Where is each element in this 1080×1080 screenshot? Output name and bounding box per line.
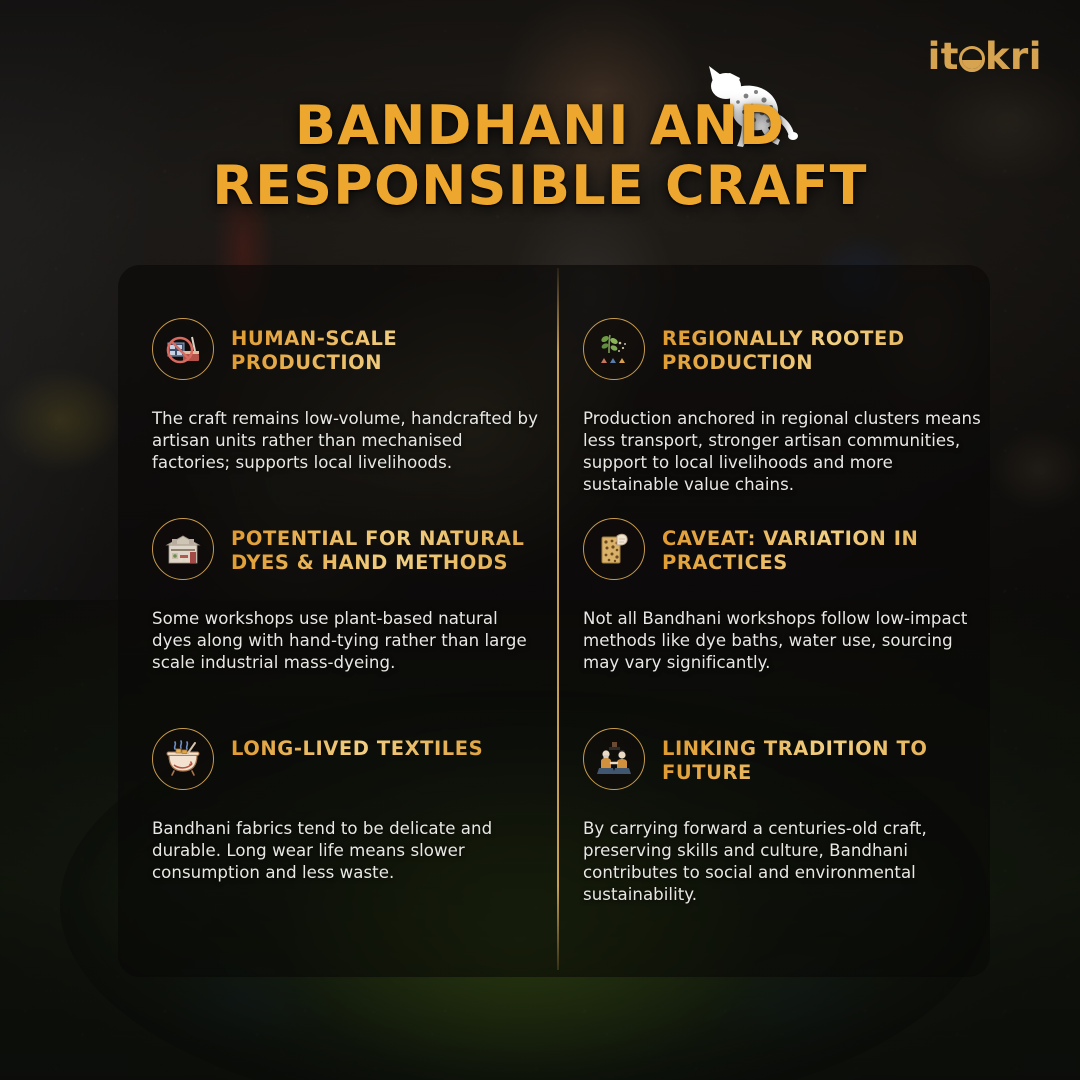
- card-long-lived-textiles: LONG-LIVED TEXTILES Bandhani fabrics ten…: [152, 728, 552, 884]
- card-body: The craft remains low-volume, handcrafte…: [152, 408, 540, 474]
- logo-text-after: kri: [985, 35, 1042, 78]
- two-artisans-seated-icon: [583, 728, 645, 790]
- workshop-shop-building-icon: [152, 518, 214, 580]
- card-header: CAVEAT: VARIATION IN PRACTICES: [583, 518, 983, 580]
- card-body: Production anchored in regional clusters…: [583, 408, 983, 496]
- card-potential-for-natural-dyes: POTENTIAL FOR NATURAL DYES & HAND METHOD…: [152, 518, 552, 674]
- card-header: POTENTIAL FOR NATURAL DYES & HAND METHOD…: [152, 518, 552, 580]
- logo-basket-o-icon: [959, 46, 985, 72]
- card-body: Some workshops use plant-based natural d…: [152, 608, 540, 674]
- card-human-scale-production: HUMAN-SCALE PRODUCTION The craft remains…: [152, 318, 552, 474]
- card-title: HUMAN-SCALE PRODUCTION: [231, 327, 551, 375]
- card-title: LONG-LIVED TEXTILES: [231, 737, 483, 761]
- card-title: CAVEAT: VARIATION IN PRACTICES: [662, 527, 982, 575]
- card-title: REGIONALLY ROOTED PRODUCTION: [662, 327, 982, 375]
- card-title: LINKING TRADITION TO FUTURE: [662, 737, 982, 785]
- seedling-soil-icon: [583, 318, 645, 380]
- hand-holding-patterned-fabric-icon: [583, 518, 645, 580]
- steaming-dye-pot-icon: [152, 728, 214, 790]
- brand-logo[interactable]: itkri: [928, 38, 1042, 75]
- logo-text-before: it: [928, 35, 959, 78]
- page-title: BANDHANI AND RESPONSIBLE CRAFT: [0, 96, 1080, 216]
- card-header: LONG-LIVED TEXTILES: [152, 728, 552, 790]
- card-body: By carrying forward a centuries-old craf…: [583, 818, 983, 906]
- no-factory-machine-icon: [152, 318, 214, 380]
- title-line-1: BANDHANI AND: [0, 96, 1080, 156]
- card-regionally-rooted-production: REGIONALLY ROOTED PRODUCTION Production …: [583, 318, 983, 496]
- card-header: REGIONALLY ROOTED PRODUCTION: [583, 318, 983, 380]
- infographic-poster: itkri BANDHANI AND RESPONS: [0, 0, 1080, 1080]
- column-divider: [557, 268, 559, 970]
- card-title: POTENTIAL FOR NATURAL DYES & HAND METHOD…: [231, 527, 551, 575]
- card-body: Not all Bandhani workshops follow low-im…: [583, 608, 983, 674]
- card-header: HUMAN-SCALE PRODUCTION: [152, 318, 552, 380]
- card-linking-tradition-to-future: LINKING TRADITION TO FUTURE By carrying …: [583, 728, 983, 906]
- title-line-2: RESPONSIBLE CRAFT: [0, 156, 1080, 216]
- card-caveat-variation-in-practices: CAVEAT: VARIATION IN PRACTICES Not all B…: [583, 518, 983, 674]
- card-header: LINKING TRADITION TO FUTURE: [583, 728, 983, 790]
- card-body: Bandhani fabrics tend to be delicate and…: [152, 818, 540, 884]
